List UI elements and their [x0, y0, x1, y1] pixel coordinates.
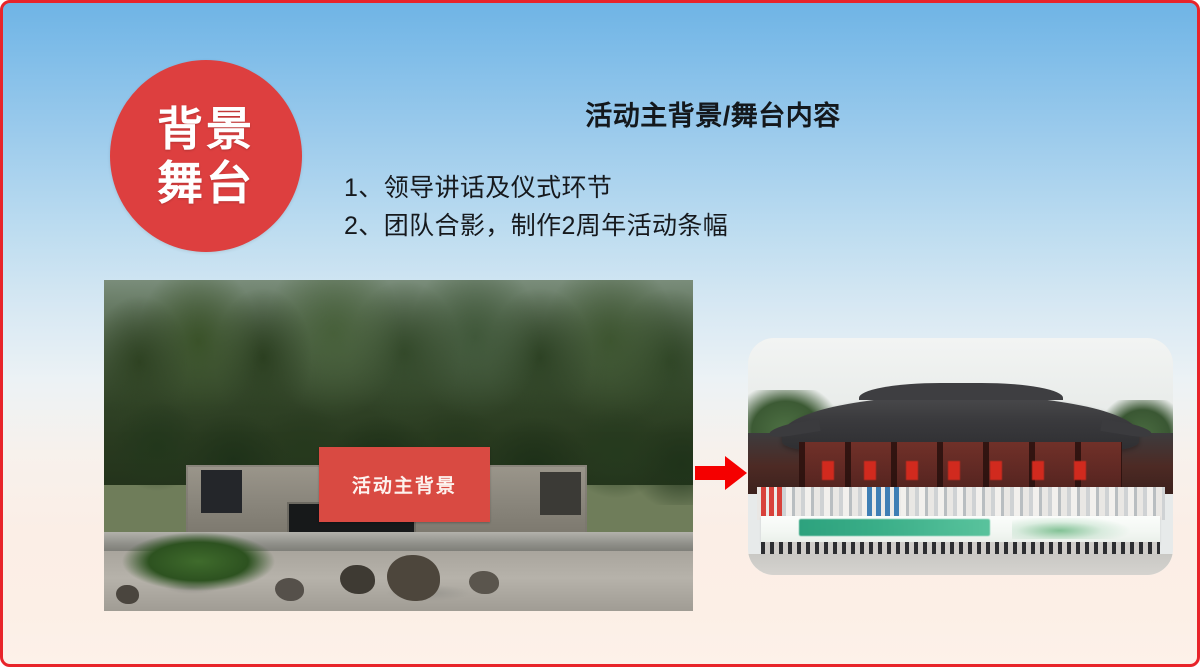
photo-left-banner-text: 活动主背景 [352, 471, 457, 498]
slide-canvas: 背景 舞台 活动主背景/舞台内容 1、领导讲话及仪式环节 2、团队合影，制作2周… [0, 0, 1200, 667]
photo-left-rock [387, 555, 440, 601]
section-badge: 背景 舞台 [110, 60, 302, 252]
photo-right-banner-leaf-graphic [1012, 518, 1131, 539]
photo-left-plaque-right [540, 472, 581, 515]
photo-left-main-backdrop-banner: 活动主背景 [319, 447, 490, 521]
bullet-list: 1、领导讲话及仪式环节 2、团队合影，制作2周年活动条幅 [344, 169, 1044, 245]
photo-left-stage-site: 活动主背景 [104, 280, 693, 611]
photo-left-rock [275, 578, 304, 601]
photo-left-rock [116, 585, 140, 605]
badge-line-2: 舞台 [157, 156, 255, 210]
photo-left-plaque-left [201, 470, 242, 513]
photo-right-roof-ridge [859, 383, 1063, 400]
photo-right-banner-green-text [799, 519, 990, 536]
photo-right-group-photo [748, 338, 1173, 575]
badge-line-1: 背景 [157, 102, 255, 156]
bullet-item-2: 2、团队合影，制作2周年活动条幅 [344, 207, 1044, 245]
bullet-item-1: 1、领导讲话及仪式环节 [344, 169, 1044, 207]
photo-left-shrub [122, 532, 275, 592]
arrow-right-icon [695, 453, 747, 493]
photo-right-red-lanterns [808, 461, 1114, 480]
photo-left-rock [469, 571, 498, 594]
page-title: 活动主背景/舞台内容 [333, 94, 1093, 133]
photo-right-plaza-ground [748, 554, 1173, 575]
